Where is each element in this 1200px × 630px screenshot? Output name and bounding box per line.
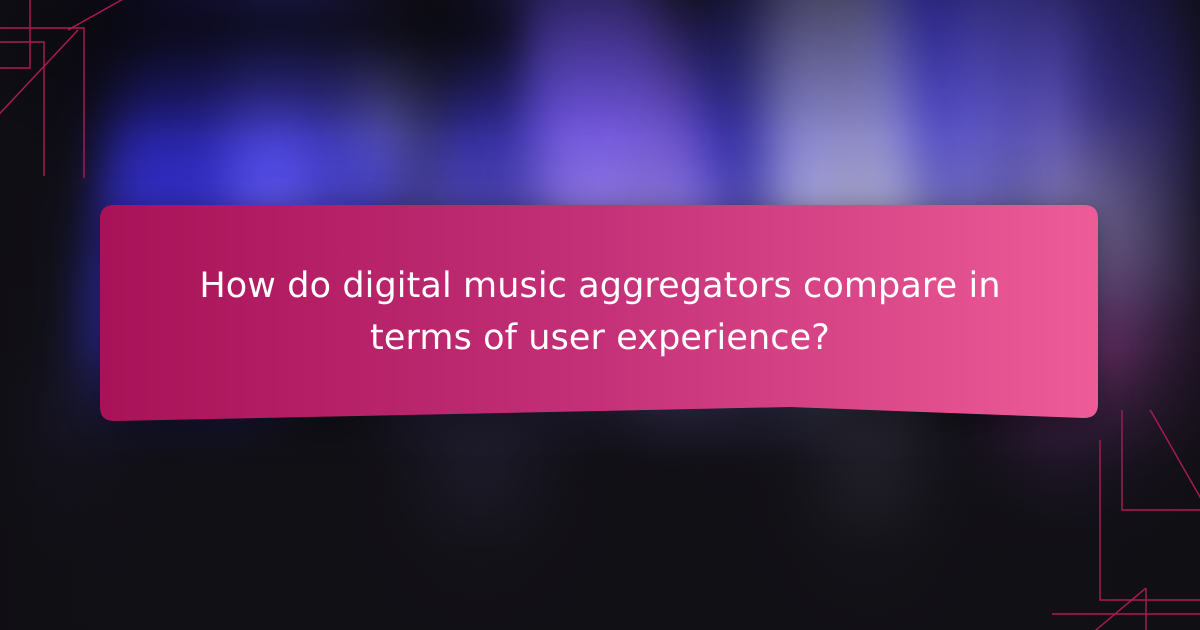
question-text: How do digital music aggregators compare… xyxy=(176,261,1024,365)
card-text-block: How do digital music aggregators compare… xyxy=(150,205,1050,421)
poster-canvas: How do digital music aggregators compare… xyxy=(0,0,1200,630)
question-card: How do digital music aggregators compare… xyxy=(0,0,1200,630)
